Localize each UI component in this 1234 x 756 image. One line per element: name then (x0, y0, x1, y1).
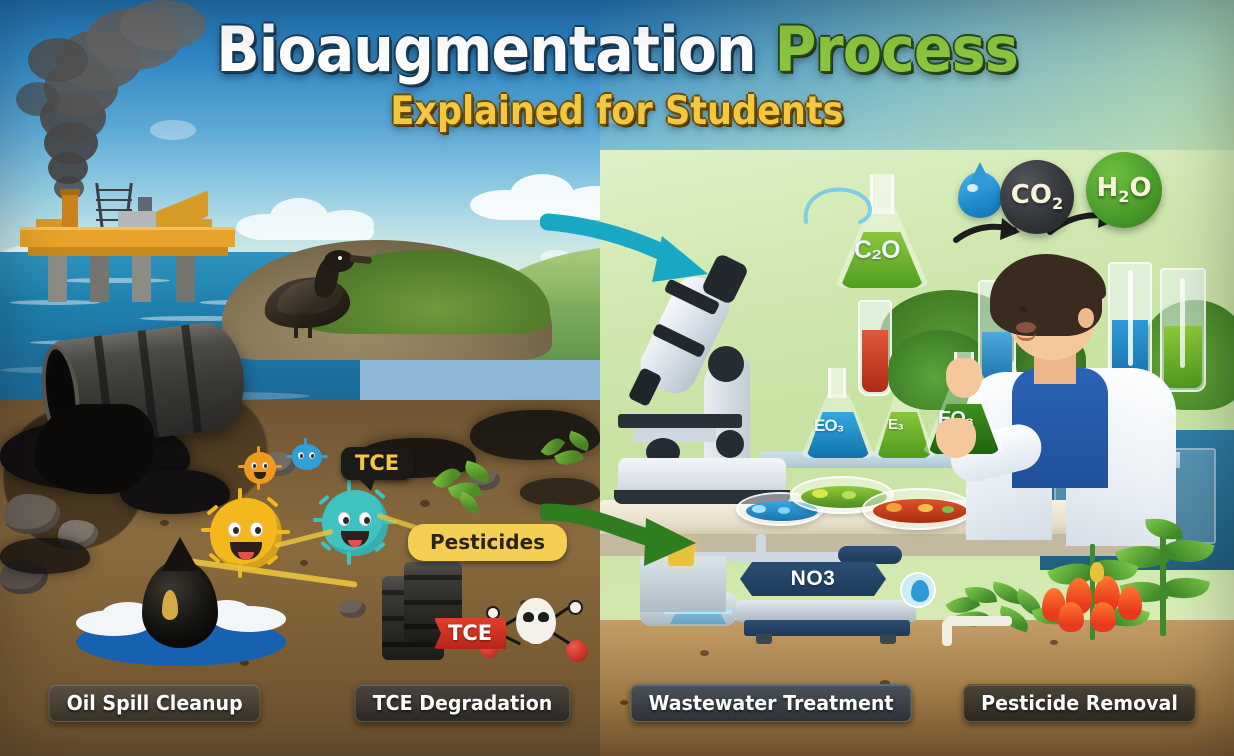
microscope-coarse-knob (708, 346, 744, 382)
infographic-poster: C₂O EO₃ E₃ EO₃ (0, 0, 1234, 756)
flask-label-blue: EO₃ (814, 416, 843, 436)
soil-plant-1 (430, 458, 500, 518)
rig-leg-2 (90, 256, 109, 302)
test-tube-red (858, 300, 892, 396)
h2o-o: O (1129, 173, 1151, 203)
tce-callout-text: TCE (355, 451, 399, 475)
rig-leg-1 (48, 256, 67, 302)
rig-leg-4 (176, 256, 195, 302)
microscope-stage (618, 414, 742, 428)
scientist-hand-lower (936, 418, 976, 458)
soil-plant-2 (540, 430, 600, 480)
oil-droplet (142, 560, 218, 648)
rig-leg-3 (132, 256, 151, 302)
water-droplet-icon (958, 172, 1002, 218)
cloud-cluster-2 (236, 196, 386, 240)
main-title: Bioaugmentation Process (49, 18, 1184, 81)
co2-text: CO (1011, 180, 1052, 210)
title-part-1: Bioaugmentation (216, 13, 755, 86)
flask-label-green-small: E₃ (888, 416, 903, 433)
title-block: Bioaugmentation Process Explained for St… (0, 18, 1234, 134)
microbe-teal-large (322, 490, 388, 556)
label-tce-degradation[interactable]: TCE Degradation (355, 684, 571, 722)
label-cell-2: TCE Degradation (309, 683, 618, 723)
co2-subscript: 2 (1052, 195, 1063, 214)
petri-dish-red (862, 488, 974, 530)
label-cell-3: Wastewater Treatment (617, 683, 926, 723)
soil-probe-tool (946, 616, 1012, 626)
arrow-to-lab-top (540, 196, 720, 292)
tce-ribbon-badge[interactable]: TCE (434, 618, 506, 649)
molecule-atom-white-1 (486, 606, 500, 620)
soil-probe-handle (942, 620, 952, 646)
swirl-decoration (800, 178, 890, 238)
molecule-atom-red-2 (566, 640, 588, 662)
label-cell-4: Pesticide Removal (926, 683, 1234, 723)
microbe-blue-small (292, 444, 322, 470)
tce-callout-badge[interactable]: TCE (341, 447, 413, 480)
scientist-hand-upper (946, 358, 982, 398)
label-wastewater-treatment[interactable]: Wastewater Treatment (631, 684, 912, 722)
flask-label-large-green: C₂O (854, 236, 900, 265)
plant-flowering (1028, 540, 1158, 650)
spilled-oil (34, 404, 154, 494)
no3-text: NO3 (791, 567, 836, 591)
subtitle: Explained for Students (62, 89, 1173, 134)
microscope (612, 262, 802, 512)
water-badge (900, 572, 936, 608)
oil-spill-cleanup-icon (120, 560, 240, 665)
wastewater-pipe-tank (838, 546, 902, 564)
microbe-orange-small (244, 452, 276, 484)
label-oil-spill-cleanup[interactable]: Oil Spill Cleanup (48, 684, 260, 722)
rig-deck (20, 227, 235, 247)
h2o-circle: H2O (1086, 152, 1162, 228)
pesticides-callout-badge[interactable]: Pesticides (408, 524, 567, 561)
microscope-fine-knob (716, 430, 744, 458)
tce-ribbon-text: TCE (448, 621, 492, 645)
toxic-skull-icon (516, 598, 556, 642)
label-pesticide-removal[interactable]: Pesticide Removal (963, 684, 1196, 722)
oil-covered-seabird (250, 250, 370, 350)
rig-deck-lower (28, 247, 228, 256)
flower-cluster (1038, 570, 1150, 632)
offshore-oil-rig (20, 175, 235, 295)
no3-label: NO3 (740, 562, 886, 596)
category-label-bar: Oil Spill Cleanup TCE Degradation Wastew… (0, 683, 1234, 723)
pesticides-callout-text: Pesticides (430, 530, 545, 554)
title-part-2: Process (775, 13, 1018, 86)
h2o-subscript: 2 (1118, 188, 1129, 207)
h2o-h: H (1096, 173, 1118, 203)
label-cell-1: Oil Spill Cleanup (0, 683, 309, 723)
molecule-atom-white-2 (568, 600, 583, 615)
co2-circle: CO2 (1000, 160, 1074, 234)
